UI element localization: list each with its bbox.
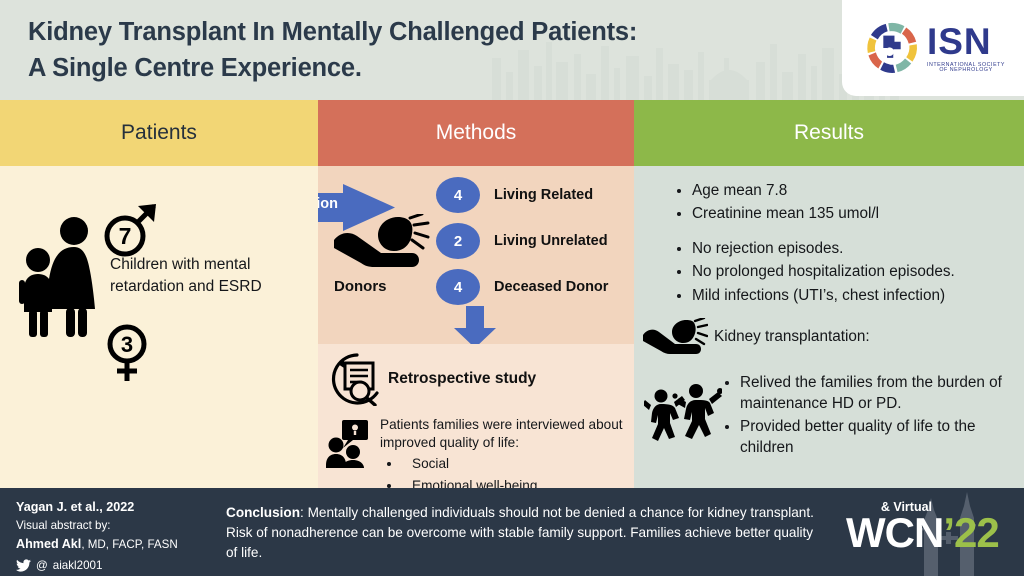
- conclusion-label: Conclusion: [226, 505, 300, 520]
- conclusion-text: : Mentally challenged individuals should…: [226, 505, 814, 560]
- poster-footer: Yagan J. et al., 2022 Visual abstract by…: [0, 488, 1024, 576]
- isn-full-name: INTERNATIONAL SOCIETY OF NEPHROLOGY: [927, 63, 1005, 74]
- conclusion-block: Conclusion: Mentally challenged individu…: [226, 503, 826, 563]
- column-body-methods: Transplantation Donors 4 Living Related …: [318, 166, 634, 488]
- wcn-year: ’22: [943, 509, 998, 556]
- children-playing-icon: [644, 380, 722, 448]
- author-credentials: , MD, FACP, FASN: [81, 538, 177, 551]
- column-results: Results Age mean 7.8 Creatinine mean 135…: [634, 100, 1024, 488]
- donor-type-label: Living Unrelated: [494, 233, 608, 249]
- hand-holding-kidney-icon: [642, 318, 708, 360]
- donor-row: 4 Deceased Donor: [436, 264, 634, 310]
- poster-header: Kidney Transplant In Mentally Challenged…: [0, 0, 1024, 100]
- isn-acronym: ISN: [927, 23, 992, 60]
- column-header-methods: Methods: [318, 100, 634, 166]
- donor-count-badge: 4: [436, 269, 480, 305]
- interview-description: Patients families were interviewed about…: [380, 417, 623, 450]
- male-symbol-icon: 7: [100, 198, 162, 260]
- isn-sub-line-2: OF NEPHROLOGY: [927, 68, 1005, 73]
- results-benefits-block: Relived the families from the burden of …: [722, 372, 1018, 460]
- isn-wordmark: ISN INTERNATIONAL SOCIETY OF NEPHROLOGY: [927, 23, 1005, 74]
- mother-and-child-icon: [16, 214, 112, 339]
- column-header-patients: Patients: [0, 100, 318, 166]
- twitter-handle[interactable]: aiakl2001: [53, 557, 103, 575]
- result-item: Age mean 7.8: [692, 180, 1019, 202]
- isn-logo: ISN INTERNATIONAL SOCIETY OF NEPHROLOGY: [842, 0, 1024, 96]
- donor-count-badge: 2: [436, 223, 480, 259]
- benefit-item: Provided better quality of life to the c…: [740, 416, 1018, 459]
- donor-row: 2 Living Unrelated: [436, 218, 634, 264]
- result-item: Mild infections (UTI’s, chest infection): [692, 285, 1019, 307]
- result-item: No prolonged hospitalization episodes.: [692, 261, 1019, 283]
- benefit-list: Relived the families from the burden of …: [722, 372, 1018, 459]
- wcn-name: WCN: [846, 509, 943, 556]
- donor-type-list: 4 Living Related 2 Living Unrelated 4 De…: [436, 172, 634, 310]
- female-symbol-icon: 3: [100, 323, 162, 385]
- donor-type-label: Deceased Donor: [494, 279, 608, 295]
- column-body-results: Age mean 7.8 Creatinine mean 135 umol/l …: [634, 166, 1024, 488]
- donor-row: 4 Living Related: [436, 172, 634, 218]
- result-item: Creatinine mean 135 umol/l: [692, 203, 1019, 225]
- kidney-transplantation-label: Kidney transplantation:: [714, 328, 870, 346]
- results-findings-list: Age mean 7.8 Creatinine mean 135 umol/l …: [674, 180, 1019, 308]
- title-line-1: Kidney Transplant In Mentally Challenged…: [28, 18, 637, 46]
- citation: Yagan J. et al., 2022: [16, 498, 216, 517]
- title-line-2: A Single Centre Experience.: [28, 50, 808, 86]
- study-type-label: Retrospective study: [388, 370, 536, 388]
- author-name: Ahmed Akl: [16, 537, 81, 551]
- poster-title: Kidney Transplant In Mentally Challenged…: [28, 14, 808, 86]
- column-methods: Methods Transplantation Donors 4 Living …: [318, 100, 634, 488]
- wcn-logo: & Virtual WCN’22: [836, 488, 1016, 576]
- family-interview-icon: [326, 420, 376, 468]
- donor-count-badge: 4: [436, 177, 480, 213]
- transplantation-label: Transplantation: [318, 196, 338, 212]
- isn-globe-icon: [861, 17, 923, 79]
- patients-description: Children with mental retardation and ESR…: [110, 254, 310, 298]
- column-body-patients: 7 3 Children with mental retardation and…: [0, 166, 318, 488]
- interview-item: Emotional well-being: [402, 477, 632, 488]
- donor-type-label: Living Related: [494, 187, 593, 203]
- result-item: No rejection episodes.: [692, 238, 1019, 260]
- author-line: Ahmed Akl, MD, FACP, FASN: [16, 535, 216, 554]
- results-group-one: Age mean 7.8 Creatinine mean 135 umol/l: [674, 180, 1019, 226]
- interview-description-block: Patients families were interviewed about…: [380, 416, 632, 488]
- wcn-wordmark: WCN’22: [846, 512, 999, 554]
- benefit-item: Relived the families from the burden of …: [740, 372, 1018, 415]
- column-header-results: Results: [634, 100, 1024, 166]
- interview-item-list: Social Emotional well-being: [380, 455, 632, 488]
- twitter-at-symbol: @: [36, 557, 48, 575]
- visual-abstract-by-label: Visual abstract by:: [16, 517, 216, 535]
- visual-abstract-poster: Kidney Transplant In Mentally Challenged…: [0, 0, 1024, 576]
- down-arrow-icon: [453, 306, 497, 348]
- male-count: 7: [119, 223, 132, 249]
- female-count: 3: [121, 332, 133, 357]
- retrospective-study-icon: [330, 352, 384, 406]
- twitter-icon[interactable]: [16, 559, 31, 572]
- twitter-handle-row[interactable]: @ aiakl2001: [16, 557, 216, 575]
- donors-label: Donors: [334, 278, 387, 295]
- methods-lower-section: Retrospective study Patients famili: [318, 344, 634, 488]
- attribution-block: Yagan J. et al., 2022 Visual abstract by…: [16, 498, 216, 574]
- interview-item: Social: [402, 455, 632, 473]
- results-group-two: No rejection episodes. No prolonged hosp…: [674, 238, 1019, 307]
- column-patients: Patients: [0, 100, 318, 488]
